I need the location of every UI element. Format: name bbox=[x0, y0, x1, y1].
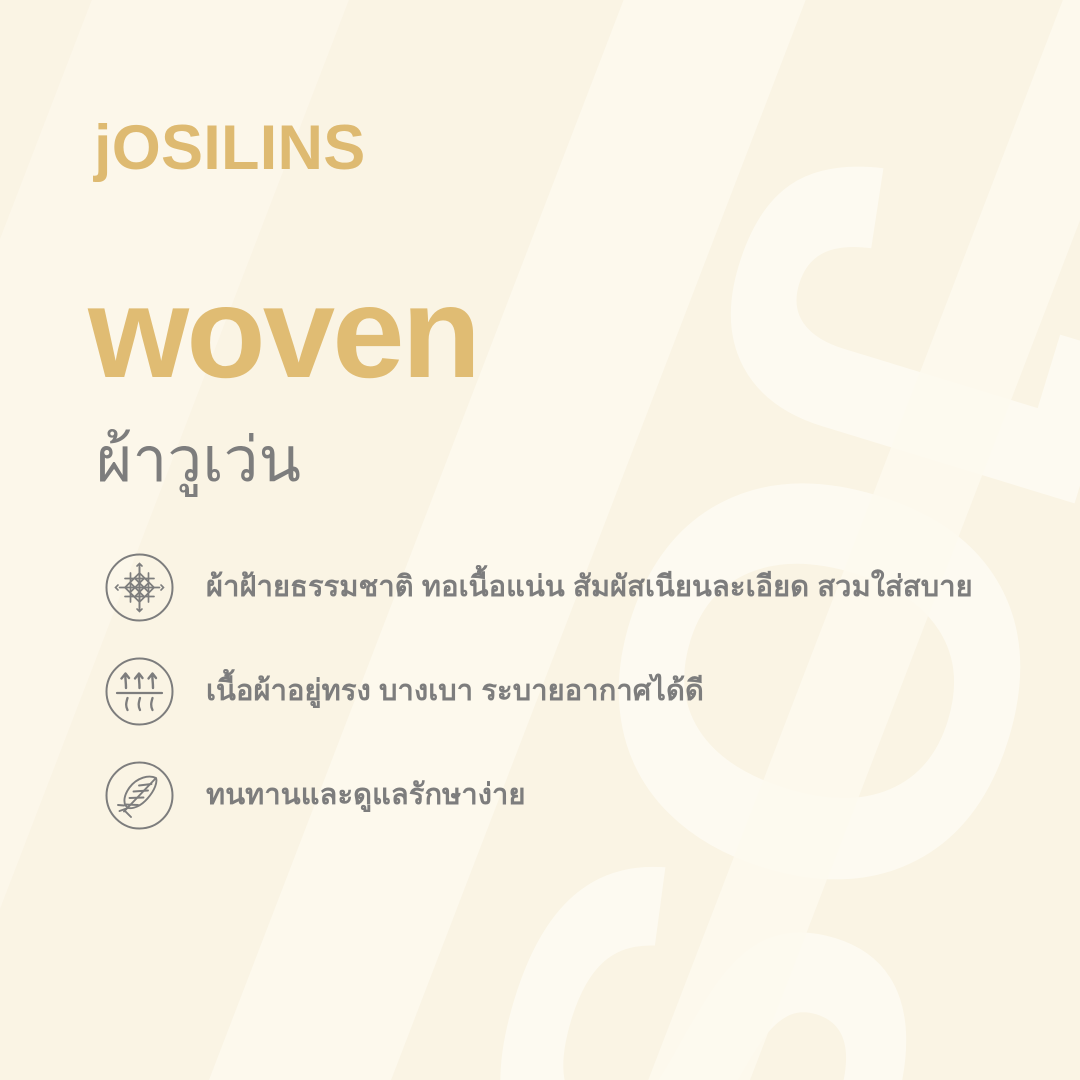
page-title: woven bbox=[88, 267, 478, 397]
feature-list: ผ้าฝ้ายธรรมชาติ ทอเนื้อแน่น สัมผัสเนียนล… bbox=[104, 552, 1034, 864]
page-subtitle: ผ้าวูเว่น bbox=[96, 425, 301, 496]
woven-lattice-icon bbox=[104, 552, 175, 623]
poster-content: jOSILINS woven ผ้าวูเว่น bbox=[0, 0, 1080, 1080]
feather-icon bbox=[104, 760, 175, 831]
list-item-label: ทนทานและดูแลรักษาง่าย bbox=[206, 778, 526, 813]
list-item-label: เนื้อผ้าอยู่ทรง บางเบา ระบายอากาศได้ดี bbox=[206, 674, 704, 709]
breathability-airflow-icon bbox=[104, 656, 175, 727]
list-item: ผ้าฝ้ายธรรมชาติ ทอเนื้อแน่น สัมผัสเนียนล… bbox=[104, 552, 1034, 623]
brand-logo-lead: j bbox=[94, 113, 112, 183]
list-item-label: ผ้าฝ้ายธรรมชาติ ทอเนื้อแน่น สัมผัสเนียนล… bbox=[206, 570, 973, 605]
brand-logo: jOSILINS bbox=[94, 117, 366, 180]
poster-canvas: JOSILINS JOSILINS jOSILINS woven ผ้าวูเว… bbox=[0, 0, 1080, 1080]
list-item: ทนทานและดูแลรักษาง่าย bbox=[104, 760, 1034, 831]
list-item: เนื้อผ้าอยู่ทรง บางเบา ระบายอากาศได้ดี bbox=[104, 656, 1034, 727]
brand-logo-rest: OSILINS bbox=[112, 113, 366, 183]
